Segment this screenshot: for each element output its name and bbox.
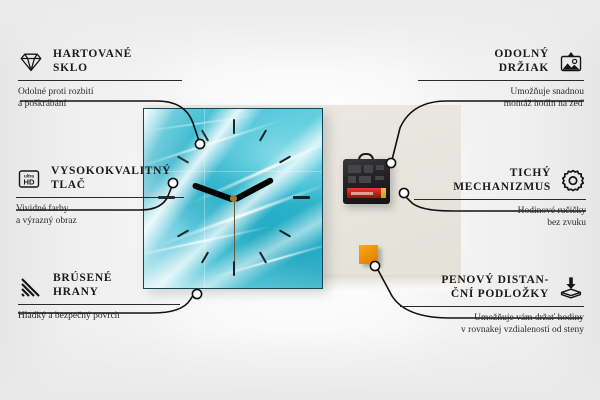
feature-desc-line2: a poškrábání (18, 98, 182, 110)
feature-title-line1: BRÚSENÉ (53, 272, 112, 286)
feature-durable-hanger: ODOLNÝ DRŽIAK Umožňuje snadnou montáž ho… (418, 48, 584, 110)
foam-spacer-pad (359, 245, 378, 264)
feature-divider (400, 306, 584, 307)
feature-desc-line2: montáž hodin na zeď (418, 98, 584, 110)
ultra-hd-icon: ultra HD (16, 166, 42, 192)
feature-title-line1: PENOVÝ DISTAN- (441, 274, 549, 288)
feature-divider (16, 197, 184, 198)
feature-title-line2: DRŽIAK (494, 62, 549, 76)
feature-title-line2: MECHANIZMUS (453, 181, 551, 195)
feature-desc-line1: Hodinové ručičky (414, 205, 586, 217)
feature-title-line1: TICHÝ (453, 167, 551, 181)
feature-divider (18, 304, 180, 305)
feature-desc-line2: v rovnakej vzdialenosti od steny (400, 324, 584, 336)
feature-foam-spacers: PENOVÝ DISTAN- ČNÍ PODLOŽKY Umožňuje vám… (400, 274, 584, 336)
feature-desc-line1: Odolné proti rozbití (18, 86, 182, 98)
svg-text:HD: HD (24, 177, 35, 186)
feature-title-line1: VYSOKOKVALITNÝ (51, 165, 171, 179)
battery-label (351, 192, 373, 195)
feature-silent-mechanism: TICHÝ MECHANIZMUS Hodinové ručičky bez z… (414, 167, 586, 229)
feature-title-line1: ODOLNÝ (494, 48, 549, 62)
feature-divider (414, 199, 586, 200)
gear-icon (560, 168, 586, 194)
feature-tempered-glass: HARTOVANÉ SKLO Odolné proti rozbití a po… (18, 48, 182, 110)
feature-desc-line1: Umožňuje snadnou (418, 86, 584, 98)
diagonal-stripes-icon (18, 273, 44, 299)
diamond-icon (18, 49, 44, 75)
feature-divider (418, 80, 584, 81)
infographic-stage: HARTOVANÉ SKLO Odolné proti rozbití a po… (0, 0, 600, 400)
picture-hanger-icon (558, 49, 584, 75)
battery-positive-cap (381, 188, 386, 198)
press-pad-icon (558, 275, 584, 301)
feature-title-line1: HARTOVANÉ (53, 48, 132, 62)
feature-desc-line2: bez zvuku (414, 217, 586, 229)
feature-desc-line1: Hladký a bezpečný povrch (18, 310, 180, 322)
feature-polished-edges: BRÚSENÉ HRANY Hladký a bezpečný povrch (18, 272, 180, 322)
feature-title-line2: TLAČ (51, 179, 171, 193)
feature-high-quality-print: ultra HD VYSOKOKVALITNÝ TLAČ Vividné far… (16, 165, 184, 227)
feature-desc-line1: Vividné farby (16, 203, 184, 215)
background-vignette-bottom (0, 330, 600, 400)
feature-desc-line2: a výrazný obraz (16, 215, 184, 227)
feature-title-line2: ČNÍ PODLOŽKY (441, 288, 549, 302)
feature-title-line2: HRANY (53, 286, 112, 300)
feature-divider (18, 80, 182, 81)
feature-title-line2: SKLO (53, 62, 132, 76)
feature-desc-line1: Umožňuje vám držať hodiny (400, 312, 584, 324)
